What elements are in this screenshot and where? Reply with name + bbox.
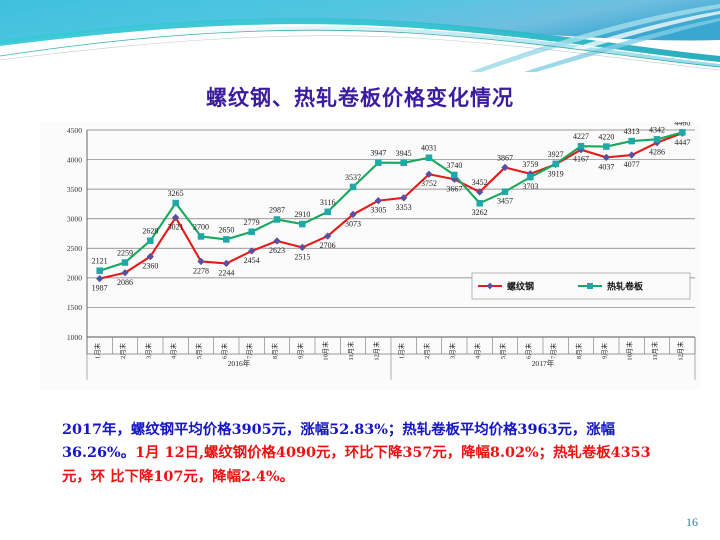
- data-label: 3452: [472, 178, 488, 187]
- data-point-marker: [502, 189, 508, 195]
- data-label: 4220: [598, 133, 614, 142]
- data-point-marker: [654, 136, 660, 142]
- data-label: 3947: [370, 149, 386, 158]
- data-label: 4167: [573, 155, 589, 164]
- x-tick-label: 11月末: [650, 341, 659, 361]
- data-label: 4077: [624, 160, 640, 169]
- data-point-marker: [527, 174, 533, 180]
- data-point-marker: [451, 172, 457, 178]
- data-label: 4227: [573, 132, 589, 141]
- data-label: 4313: [624, 127, 640, 136]
- page-number: 16: [686, 515, 698, 530]
- data-label: 3740: [446, 161, 462, 170]
- legend-marker: [587, 283, 593, 289]
- y-tick-label: 2500: [67, 244, 82, 253]
- data-label: 3457: [497, 197, 513, 206]
- data-label: 2700: [193, 222, 209, 231]
- data-label: 2454: [244, 256, 260, 265]
- data-point-marker: [477, 200, 483, 206]
- data-label: 4286: [649, 148, 665, 157]
- data-label: 2628: [142, 227, 158, 236]
- data-label: 2623: [269, 246, 285, 255]
- data-point-marker: [249, 229, 255, 235]
- y-tick-label: 3000: [67, 215, 82, 224]
- x-tick-label: 6月末: [219, 342, 228, 359]
- data-label: 2121: [92, 257, 108, 266]
- data-label: 2650: [218, 225, 234, 234]
- data-point-marker: [97, 268, 103, 274]
- data-label: 4460: [674, 122, 690, 127]
- data-label: 3927: [548, 150, 564, 159]
- chart-legend: 螺纹钢热轧卷板: [472, 273, 690, 299]
- data-label: 2259: [117, 249, 133, 258]
- x-tick-label: 12月末: [675, 341, 684, 361]
- x-tick-label: 7月末: [549, 342, 558, 359]
- data-label: 3116: [320, 198, 336, 207]
- data-label: 4342: [649, 125, 665, 134]
- x-tick-label: 6月末: [523, 342, 532, 359]
- x-tick-label: 5月末: [498, 342, 507, 359]
- x-tick-label: 2月末: [118, 342, 127, 359]
- data-label: 2910: [294, 210, 310, 219]
- data-point-marker: [147, 238, 153, 244]
- data-label: 3667: [446, 184, 462, 193]
- data-label: 3752: [421, 179, 437, 188]
- x-tick-label: 8月末: [270, 342, 279, 359]
- data-label: 2706: [320, 241, 336, 250]
- x-tick-label: 10月末: [321, 341, 330, 361]
- data-point-marker: [578, 143, 584, 149]
- data-label: 3919: [548, 169, 564, 178]
- chart-canvas: 10001500200025003000350040004500 1月末2月末3…: [40, 122, 700, 390]
- x-tick-label: 3月末: [447, 342, 456, 359]
- slide-banner-decoration: [0, 0, 720, 72]
- data-point-marker: [198, 233, 204, 239]
- data-point-marker: [173, 200, 179, 206]
- y-tick-label: 4500: [67, 126, 82, 135]
- data-label: 3265: [168, 189, 184, 198]
- data-point-marker: [299, 221, 305, 227]
- data-point-marker: [629, 138, 635, 144]
- banner-swoosh-graphic: [0, 0, 720, 72]
- data-point-marker: [603, 144, 609, 150]
- data-point-marker: [122, 260, 128, 266]
- y-tick-label: 4000: [67, 155, 82, 164]
- x-tick-label: 12月末: [371, 341, 380, 361]
- legend-label: 螺纹钢: [507, 280, 534, 291]
- data-point-marker: [325, 209, 331, 215]
- data-label: 3353: [396, 203, 412, 212]
- x-tick-label: 4月末: [473, 342, 482, 359]
- summary-note-red: 1月 12日,螺纹钢价格4090元，环比下降357元，降幅8.02%；热轧卷板4…: [62, 444, 651, 484]
- y-tick-label: 1000: [67, 333, 82, 342]
- y-tick-label: 2000: [67, 274, 82, 283]
- x-tick-label: 4月末: [169, 342, 178, 359]
- data-label: 4031: [421, 144, 437, 153]
- page-title: 螺纹钢、热轧卷板价格变化情况: [0, 82, 720, 112]
- y-tick-label: 1500: [67, 303, 82, 312]
- x-tick-label: 10月末: [625, 341, 634, 361]
- data-label: 3262: [472, 208, 488, 217]
- data-label: 2987: [269, 205, 285, 214]
- x-tick-label: 7月末: [245, 342, 254, 359]
- data-label: 3021: [168, 222, 184, 231]
- data-label: 3867: [497, 153, 513, 162]
- data-point-marker: [350, 184, 356, 190]
- data-point-marker: [679, 129, 685, 135]
- data-point-marker: [401, 160, 407, 166]
- data-point-marker: [274, 216, 280, 222]
- price-trend-chart: 10001500200025003000350040004500 1月末2月末3…: [40, 122, 700, 390]
- summary-note: 2017年，螺纹钢平均价格3905元，涨幅52.83%；热轧卷板平均价格3963…: [62, 418, 670, 488]
- y-tick-label: 3500: [67, 185, 82, 194]
- data-label: 3759: [522, 160, 538, 169]
- data-label: 3703: [522, 182, 538, 191]
- data-point-marker: [553, 161, 559, 167]
- data-label: 3073: [345, 219, 361, 228]
- data-label: 2278: [193, 266, 209, 275]
- x-tick-label: 3月末: [143, 342, 152, 359]
- x-tick-label: 8月末: [574, 342, 583, 359]
- x-tick-label: 1月末: [93, 342, 102, 359]
- data-label: 4447: [674, 138, 690, 147]
- x-tick-label: 9月末: [599, 342, 608, 359]
- data-label: 2244: [218, 268, 234, 277]
- x-axis-group-label: 2017年: [532, 358, 555, 368]
- x-tick-label: 11月末: [346, 341, 355, 361]
- data-label: 3305: [370, 206, 386, 215]
- x-axis-group-label: 2016年: [228, 358, 251, 368]
- data-point-marker: [375, 160, 381, 166]
- x-tick-label: 9月末: [295, 342, 304, 359]
- data-label: 2086: [117, 278, 133, 287]
- data-label: 3945: [396, 149, 412, 158]
- x-tick-label: 5月末: [194, 342, 203, 359]
- data-label: 4037: [598, 162, 614, 171]
- x-tick-label: 2月末: [422, 342, 431, 359]
- x-tick-label: 1月末: [397, 342, 406, 359]
- data-label: 2779: [244, 218, 260, 227]
- data-label: 2515: [294, 252, 310, 261]
- data-label: 2360: [142, 262, 158, 271]
- legend-label: 热轧卷板: [607, 280, 644, 291]
- data-label: 3537: [345, 173, 361, 182]
- data-point-marker: [426, 155, 432, 161]
- data-label: 1987: [92, 284, 108, 293]
- data-point-marker: [223, 236, 229, 242]
